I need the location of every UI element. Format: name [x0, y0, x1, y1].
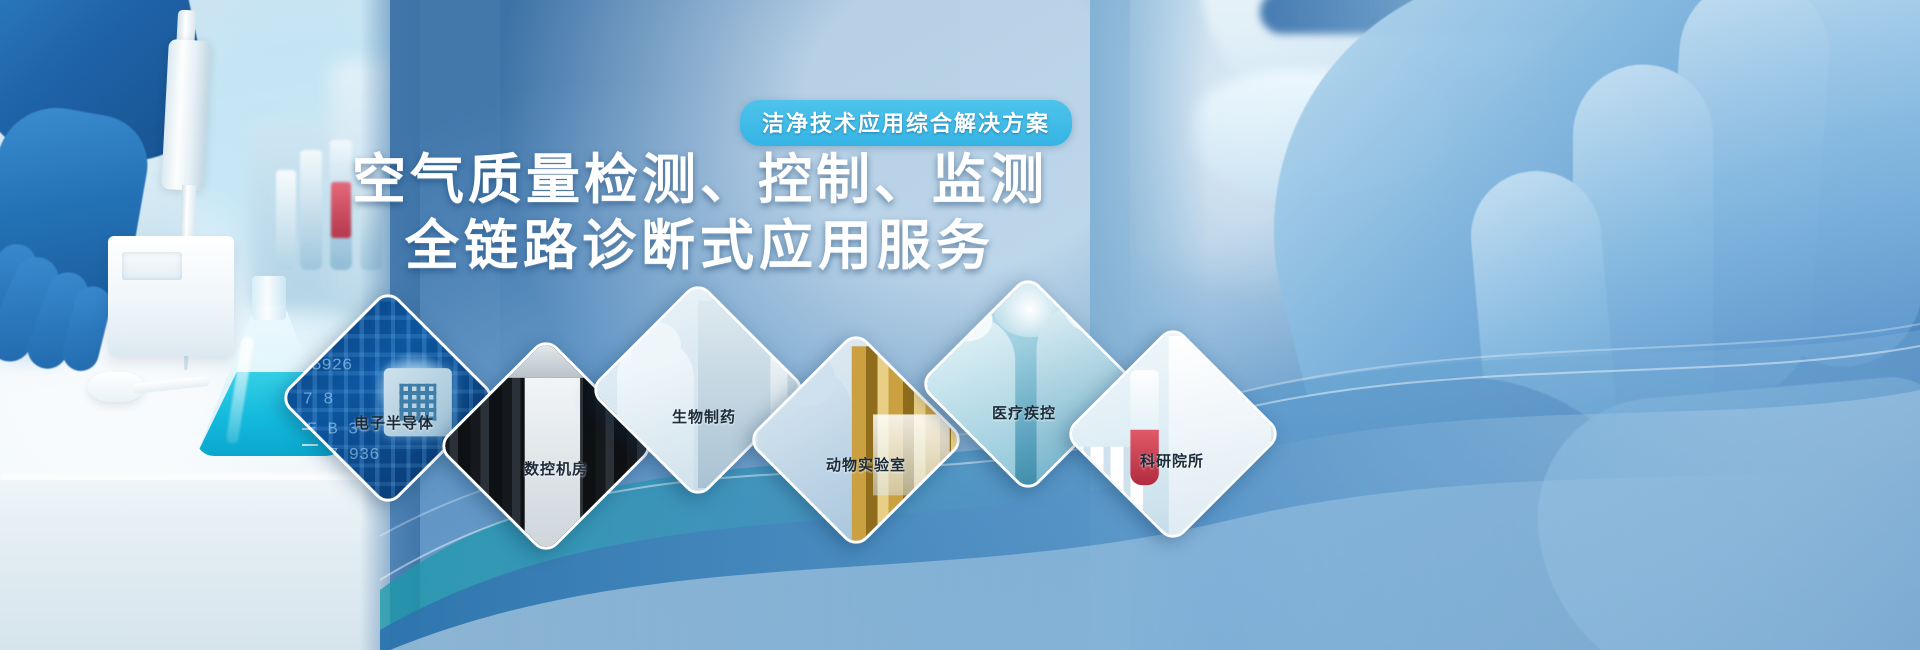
pcb-marking: B8 C A: [299, 470, 360, 490]
pcb-marking: E B 3: [307, 419, 358, 439]
pharma-technician-head: [630, 322, 681, 369]
industry-card-label-medical: 医疗疾控: [992, 402, 1056, 423]
medical-staff-two-head: [1064, 288, 1115, 331]
pcb-marking: E25F: [409, 479, 450, 499]
pcb-marking: 7 936: [328, 445, 379, 465]
industry-card-label-animal-lab: 动物实验室: [826, 454, 906, 475]
medical-staff-one-head: [941, 299, 992, 342]
researcher-lab-coat: [1169, 336, 1271, 540]
hero-banner: 洁净技术应用综合解决方案 空气质量检测、控制、监测 全链路诊断式应用服务 592…: [0, 0, 1920, 650]
pcb-marking: 5926: [311, 355, 352, 375]
pcb-marking: 7 8: [303, 389, 334, 409]
industry-card-label-research: 科研院所: [1140, 450, 1204, 471]
industry-card-label-server-room: 数控机房: [524, 458, 588, 479]
industry-card-label-semiconductor: 电子半导体: [354, 412, 434, 433]
industry-card-row: 5926 7 8 E B 3 7 936 B8 C A E25F 电子半导体 数…: [0, 0, 1920, 650]
industry-card-label-biopharma: 生物制药: [672, 406, 736, 427]
